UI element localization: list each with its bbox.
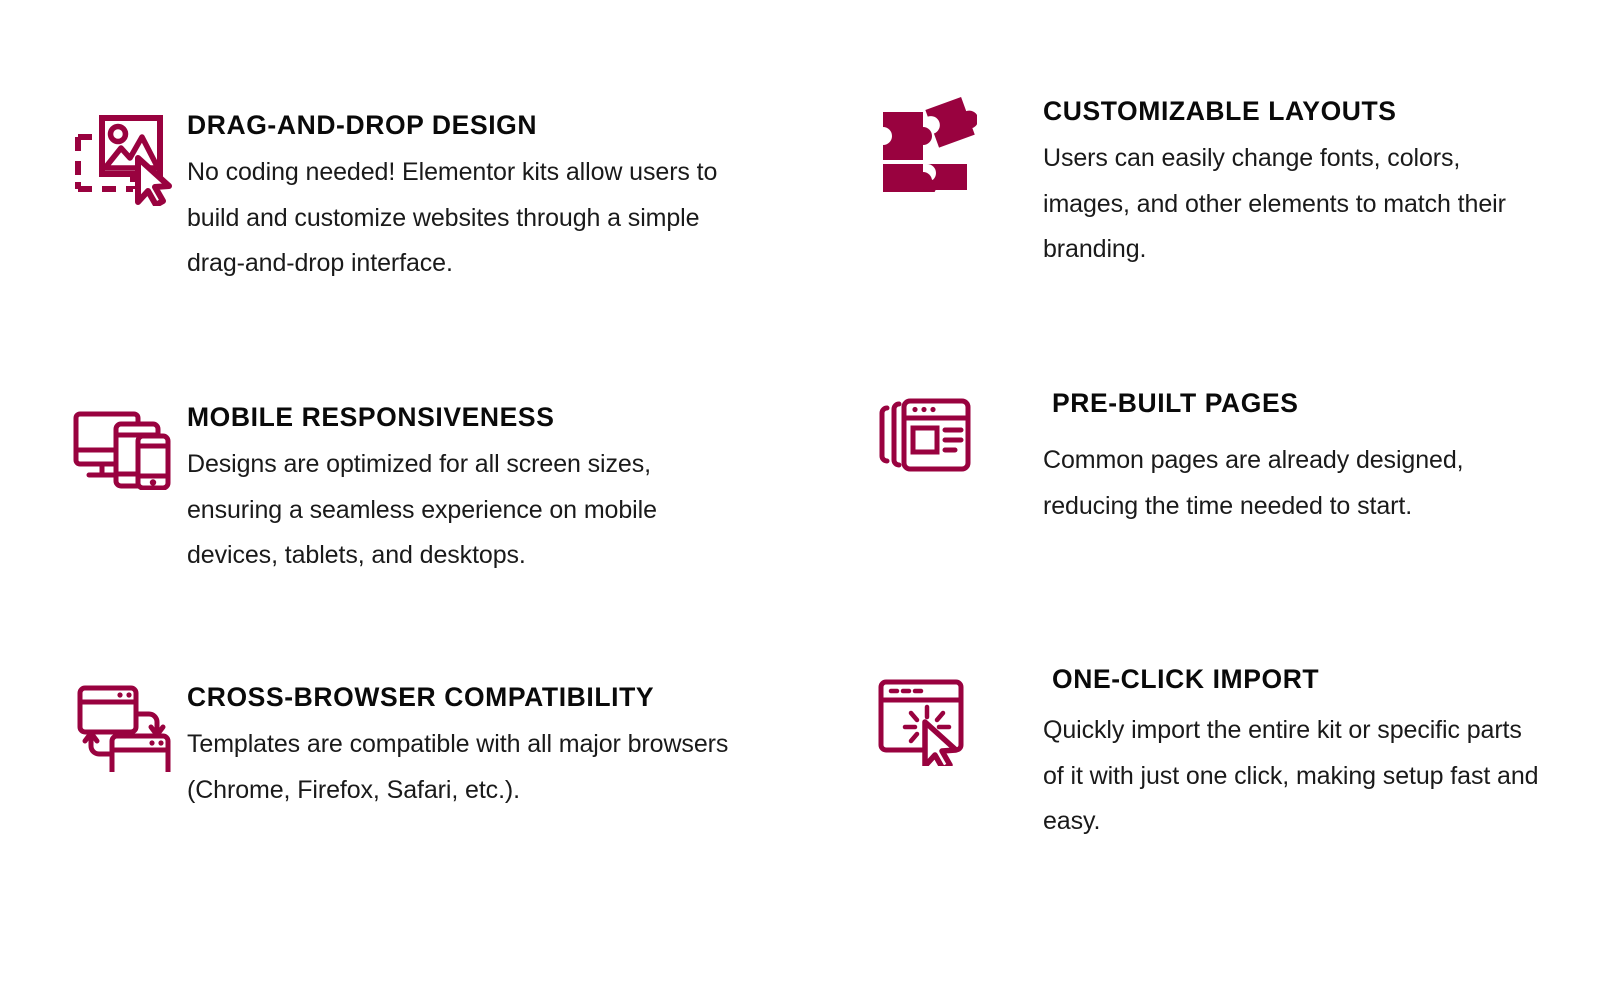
feature-body: Users can easily change fonts, colors, i… [1043,136,1543,273]
feature-title: PRE-BUILT PAGES [1043,388,1543,418]
feature-card-cross-browser-compatibility: CROSS-BROWSER COMPATIBILITY Templates ar… [0,660,810,960]
feature-body: Common pages are already designed, reduc… [1043,438,1543,529]
feature-card-pre-built-pages: PRE-BUILT PAGES Common pages are already… [810,372,1600,660]
feature-text-block: CUSTOMIZABLE LAYOUTS Users can easily ch… [977,96,1543,273]
browser-click-cursor-burst-icon [873,674,977,774]
feature-text-block: PRE-BUILT PAGES Common pages are already… [977,388,1543,529]
feature-title: ONE-CLICK IMPORT [1043,664,1543,694]
feature-title: MOBILE RESPONSIVENESS [187,402,752,432]
image-drag-drop-cursor-icon [72,110,176,210]
feature-body: Quickly import the entire kit or specifi… [1043,708,1543,845]
feature-body: Templates are compatible with all major … [187,722,752,813]
feature-text-block: ONE-CLICK IMPORT Quickly import the enti… [977,664,1543,845]
feature-body: No coding needed! Elementor kits allow u… [187,150,752,287]
puzzle-pieces-icon [873,94,977,194]
two-browsers-sync-arrows-icon [72,680,176,780]
feature-card-one-click-import: ONE-CLICK IMPORT Quickly import the enti… [810,660,1600,960]
features-page: DRAG-AND-DROP DESIGN No coding needed! E… [0,0,1600,1000]
stacked-browser-windows-icon [873,394,977,494]
feature-card-customizable-layouts: CUSTOMIZABLE LAYOUTS Users can easily ch… [810,72,1600,372]
feature-card-mobile-responsiveness: MOBILE RESPONSIVENESS Designs are optimi… [0,372,810,660]
features-grid: DRAG-AND-DROP DESIGN No coding needed! E… [0,0,1600,1000]
feature-text-block: DRAG-AND-DROP DESIGN No coding needed! E… [176,110,752,287]
feature-text-block: CROSS-BROWSER COMPATIBILITY Templates ar… [176,682,752,813]
devices-monitor-tablet-phone-icon [72,408,176,508]
feature-text-block: MOBILE RESPONSIVENESS Designs are optimi… [176,402,752,579]
feature-card-drag-and-drop-design: DRAG-AND-DROP DESIGN No coding needed! E… [0,72,810,372]
feature-title: CROSS-BROWSER COMPATIBILITY [187,682,752,712]
feature-title: CUSTOMIZABLE LAYOUTS [1043,96,1543,126]
feature-title: DRAG-AND-DROP DESIGN [187,110,752,140]
feature-body: Designs are optimized for all screen siz… [187,442,752,579]
